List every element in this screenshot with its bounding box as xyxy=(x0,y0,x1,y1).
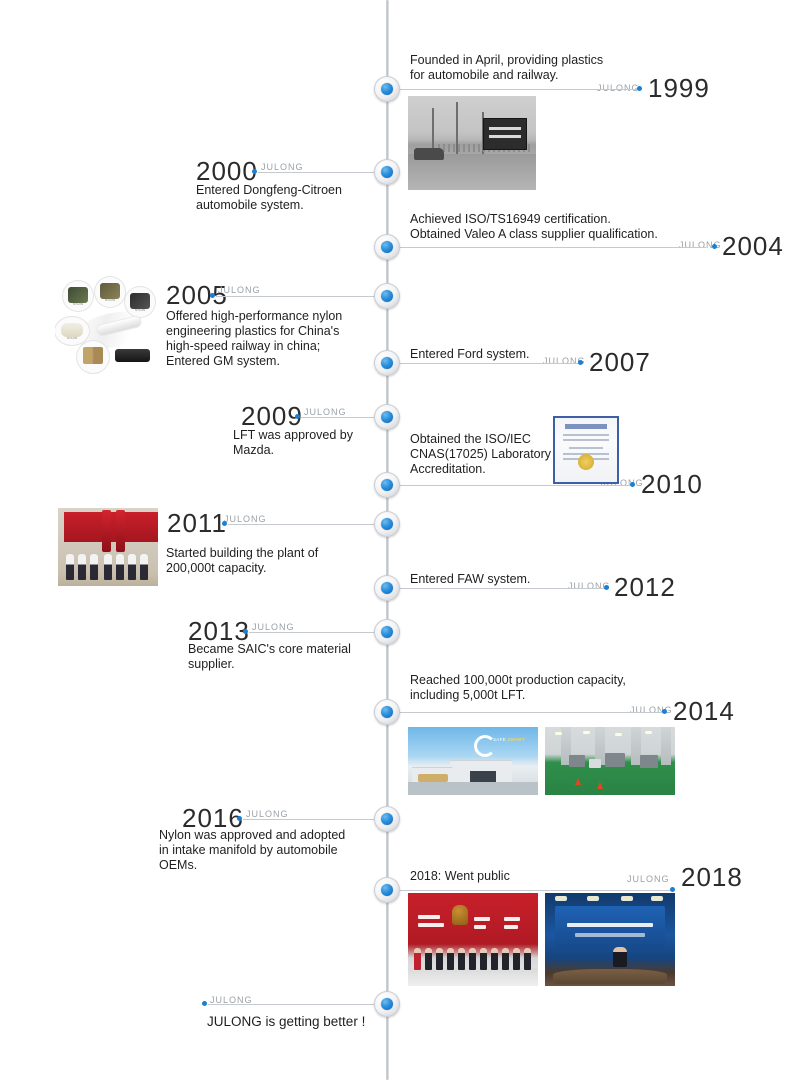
event-text-2007: Entered Ford system. xyxy=(410,347,560,362)
event-text-2010: Obtained the ISO/IEC CNAS(17025) Laborat… xyxy=(410,432,560,477)
leader-dot-2010 xyxy=(630,482,635,487)
event-text-2018: 2018: Went public xyxy=(410,869,630,884)
event-text-2009: LFT was approved by Mazda. xyxy=(233,428,398,458)
year-label-2000: 2000 xyxy=(196,158,258,184)
timeline-node-2012[interactable] xyxy=(374,575,400,601)
brand-mark-2013: JULONG xyxy=(252,623,295,632)
product-sample-3: NYLON xyxy=(125,287,155,317)
leader-line-2004 xyxy=(400,247,706,248)
product-sample-6 xyxy=(113,341,153,371)
leader-dot-2012 xyxy=(604,585,609,590)
leader-dot-2007 xyxy=(578,360,583,365)
year-label-2010: 2010 xyxy=(641,471,703,497)
event-text-2004: Achieved ISO/TS16949 certification. Obta… xyxy=(410,212,690,242)
product-sample-2: NYLON xyxy=(95,277,125,307)
year-label-2012: 2012 xyxy=(614,574,676,600)
leader-line-1999 xyxy=(400,89,640,90)
leader-dot-2004 xyxy=(712,244,717,249)
timeline-node-2005[interactable] xyxy=(374,283,400,309)
year-label-2014: 2014 xyxy=(673,698,735,724)
event-text-2011: Started building the plant of 200,000t c… xyxy=(166,546,381,576)
leader-dot-closing xyxy=(202,1001,207,1006)
leader-line-2010 xyxy=(400,485,632,486)
event-text-2000: Entered Dongfeng-Citroen automobile syst… xyxy=(196,183,411,213)
year-label-2007: 2007 xyxy=(589,349,651,375)
leader-line-2012 xyxy=(400,588,606,589)
online-roadshow-photo-2018 xyxy=(545,893,675,986)
year-label-2009: 2009 xyxy=(241,403,303,429)
event-text-2012: Entered FAW system. xyxy=(410,572,570,587)
leader-line-2000 xyxy=(258,172,376,173)
year-label-2013: 2013 xyxy=(188,618,250,644)
leader-dot-2005 xyxy=(210,293,215,298)
corporate-logo-2014: SAFE SMART xyxy=(474,735,530,755)
leader-line-2014 xyxy=(400,712,664,713)
timeline-node-2011[interactable] xyxy=(374,511,400,537)
product-sample-4: NYLON xyxy=(55,317,89,345)
leader-line-2009 xyxy=(301,417,376,418)
leader-dot-2011 xyxy=(222,521,227,526)
brand-mark-2011: JULONG xyxy=(224,515,267,524)
leader-dot-2014 xyxy=(662,709,667,714)
leader-line-closing xyxy=(208,1004,376,1005)
timeline-node-2004[interactable] xyxy=(374,234,400,260)
factory-gate-photo-1999 xyxy=(408,96,536,190)
brand-mark-2016: JULONG xyxy=(246,810,289,819)
year-label-2018: 2018 xyxy=(681,864,743,890)
timeline-node-2007[interactable] xyxy=(374,350,400,376)
timeline-node-2014[interactable] xyxy=(374,699,400,725)
nylon-products-collage-2005: NYLON NYLON NYLON NYLON xyxy=(55,275,165,375)
leader-dot-2013 xyxy=(243,629,248,634)
brand-mark-2000: JULONG xyxy=(261,163,304,172)
timeline-node-2009[interactable] xyxy=(374,404,400,430)
leader-dot-2009 xyxy=(295,414,300,419)
event-text-2016: Nylon was approved and adopted in intake… xyxy=(159,828,371,873)
leader-dot-2000 xyxy=(252,169,257,174)
brand-mark-2005: JULONG xyxy=(218,286,261,295)
year-label-2004: 2004 xyxy=(722,233,784,259)
groundbreaking-ceremony-photo-2011 xyxy=(58,508,158,586)
timeline-node-2018[interactable] xyxy=(374,877,400,903)
brand-mark-2009: JULONG xyxy=(304,408,347,417)
event-text-2014: Reached 100,000t production capacity, in… xyxy=(410,673,670,703)
leader-line-2011 xyxy=(228,524,376,525)
timeline-node-2000[interactable] xyxy=(374,159,400,185)
leader-line-2005 xyxy=(216,296,376,297)
timeline-node-2016[interactable] xyxy=(374,806,400,832)
leader-dot-2018 xyxy=(670,887,675,892)
year-label-2011: 2011 xyxy=(167,510,227,536)
leader-line-2016 xyxy=(243,819,376,820)
product-sample-1: NYLON xyxy=(63,281,93,311)
event-text-2005: Offered high-performance nylon engineeri… xyxy=(166,309,391,369)
leader-dot-2016 xyxy=(237,816,242,821)
timeline-node-2010[interactable] xyxy=(374,472,400,498)
leader-dot-1999 xyxy=(637,86,642,91)
brand-mark-2018: JULONG xyxy=(627,875,670,884)
timeline-node-closing[interactable] xyxy=(374,991,400,1017)
event-text-1999: Founded in April, providing plastics for… xyxy=(410,53,640,83)
timeline-node-1999[interactable] xyxy=(374,76,400,102)
leader-line-2007 xyxy=(400,363,580,364)
timeline-node-2013[interactable] xyxy=(374,619,400,645)
leader-line-2018 xyxy=(400,890,672,891)
listing-bell-ceremony-photo-2018 xyxy=(408,893,538,986)
cnas-certificate-2010 xyxy=(553,416,619,484)
workshop-interior-photo-2014 xyxy=(545,727,675,795)
event-text-2013: Became SAIC's core material supplier. xyxy=(188,642,403,672)
product-sample-5 xyxy=(77,341,109,373)
leader-line-2013 xyxy=(249,632,376,633)
year-label-1999: 1999 xyxy=(648,75,710,101)
plant-exterior-photo-2014: SAFE SMART xyxy=(408,727,538,795)
